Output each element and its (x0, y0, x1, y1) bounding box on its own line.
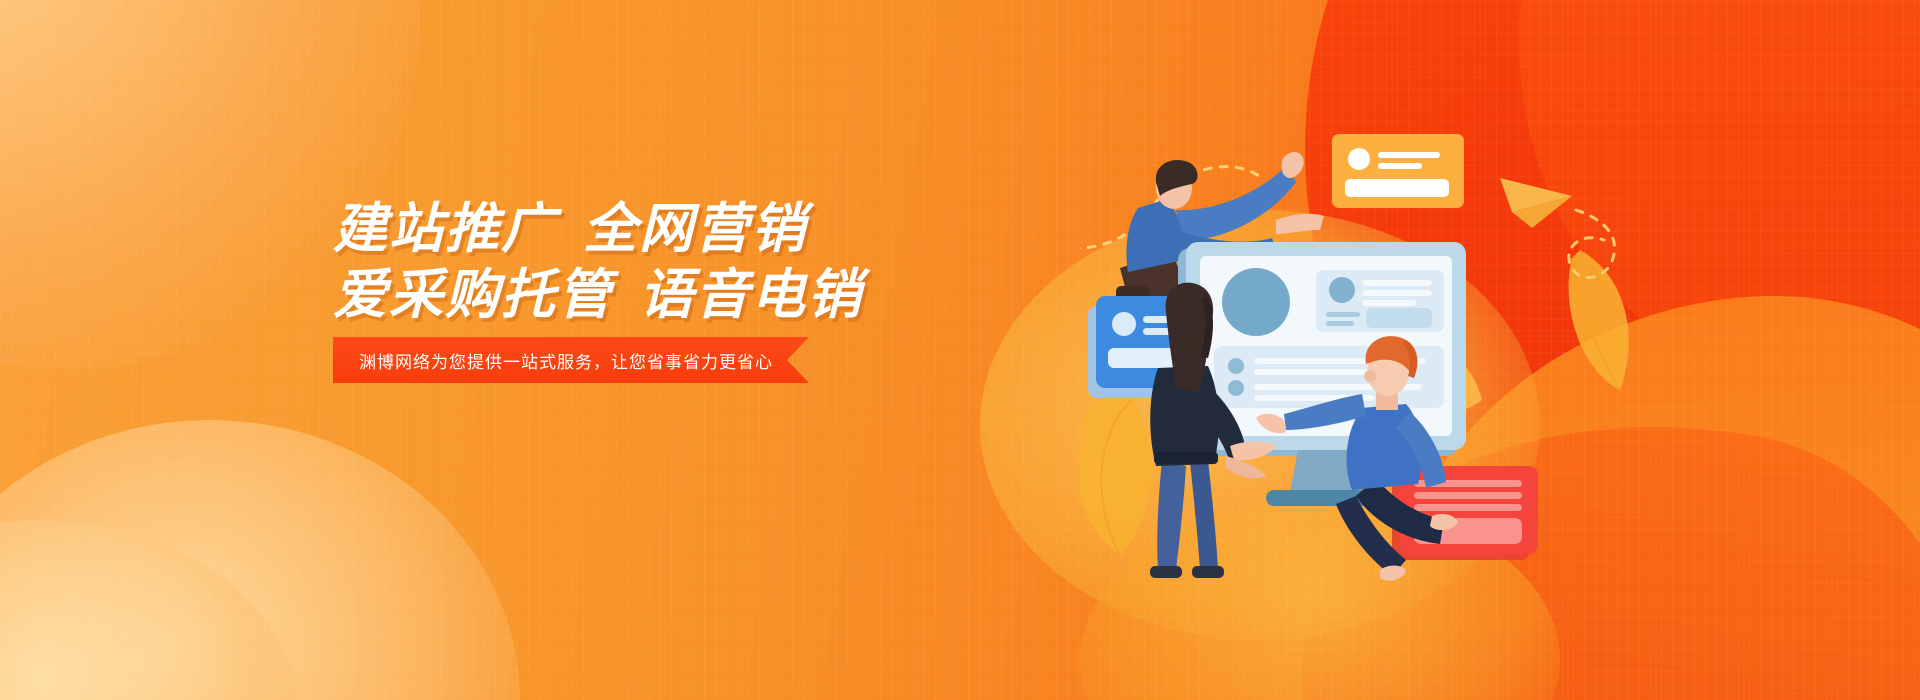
headline-line-2-part-1: 爱采购托管 (333, 265, 613, 325)
headline-line-2-part-2: 语音电销 (639, 265, 863, 325)
paper-plane-icon (1500, 178, 1572, 228)
headline-line-1-part-1: 建站推广 (333, 199, 557, 259)
tagline-ribbon: 渊博网络为您提供一站式服务，让您省事省力更省心 (333, 337, 809, 383)
promo-banner: 建站推广全网营销 爱采购托管语音电销 渊博网络为您提供一站式服务，让您省事省力更… (0, 0, 1920, 700)
headline-line-1: 建站推广全网营销 (333, 196, 1093, 262)
yellow-notification-card (1332, 134, 1464, 208)
headline-block: 建站推广全网营销 爱采购托管语音电销 (333, 196, 1093, 328)
headline-line-2: 爱采购托管语音电销 (333, 262, 1093, 328)
headline-line-1-part-2: 全网营销 (583, 199, 807, 259)
team-website-illustration (1080, 100, 1640, 600)
tagline-text: 渊博网络为您提供一站式服务，让您省事省力更省心 (359, 348, 773, 373)
